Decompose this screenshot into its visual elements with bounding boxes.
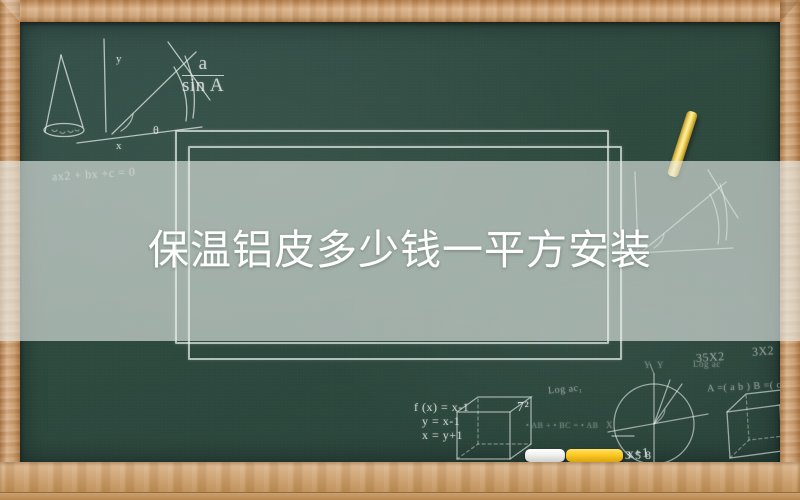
frame-top-rail: [0, 0, 800, 22]
chalk-axis-label-x-right: X: [606, 420, 613, 430]
miter-top-right: [780, 0, 800, 22]
chalk-stick-white-ledge: [525, 449, 565, 462]
chalk-function-line-1: f (x) = x-1: [414, 400, 469, 415]
chalk-law-of-sines-top: a sin A: [182, 54, 224, 96]
chalk-axis-label-y: y: [116, 53, 122, 65]
chalk-scale-label-3x2: 3X2: [752, 343, 775, 360]
page-title: 保温铝皮多少钱一平方安装: [0, 224, 800, 276]
frame-bottom-ledge: [0, 462, 800, 500]
chalk-law-of-sines-bottom-1: a sin A: [410, 460, 438, 462]
chalk-axis-label-y-mid: Y: [657, 360, 664, 370]
chalk-axis-label-y-right: Y: [644, 360, 651, 370]
ledge-lip: [0, 492, 800, 500]
chalk-axis-label-x: x: [116, 140, 122, 152]
chalk-angle-label-theta: θ: [153, 123, 159, 138]
chalk-segment-addition: • AB + • BC = • AB: [526, 421, 598, 430]
chalk-stick-yellow-ledge: [566, 449, 623, 462]
chalk-log-label-2: Log ac: [693, 359, 721, 369]
chalk-power-seven-squared: 7²: [517, 400, 529, 416]
chalkboard-title-card: a sin A y x θ ax2 + bx +c = 0 35X2 3X2 Y…: [0, 0, 800, 500]
chalk-function-line-2: y = x-1: [422, 414, 460, 429]
chalk-fraction-numerator-3: a: [478, 460, 506, 462]
chalk-fraction-numerator: a: [182, 54, 224, 75]
chalk-fraction-numerator-2: a: [410, 460, 438, 462]
miter-top-left: [0, 0, 20, 22]
chalk-fraction-denominator: sin A: [182, 75, 224, 97]
chalk-function-line-3: x = y+1: [422, 428, 463, 443]
chalk-long-division-row-1: 3 5 8: [625, 448, 652, 462]
chalk-law-of-sines-bottom-2: a sin A: [478, 460, 506, 462]
